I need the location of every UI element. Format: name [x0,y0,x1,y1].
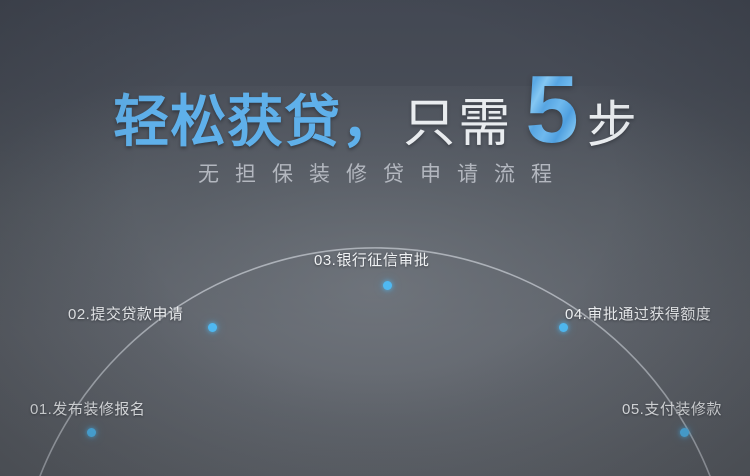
step-label-04: 04.审批通过获得额度 [565,303,711,324]
step-label-03: 03.银行征信审批 [314,249,429,270]
step-dot-05[interactable] [680,428,689,437]
step-dot-01[interactable] [87,428,96,437]
step-dot-03[interactable] [383,281,392,290]
promo-banner: 轻松获贷 ， 只需 5 步 无担保装修贷申请流程 01.发布装修报名 02.提交… [0,0,750,476]
step-dot-02[interactable] [208,323,217,332]
arc-line [28,248,722,476]
step-label-01: 01.发布装修报名 [30,398,145,419]
step-label-05: 05.支付装修款 [622,398,722,419]
step-dot-04[interactable] [559,323,568,332]
step-label-02: 02.提交贷款申请 [68,303,183,324]
